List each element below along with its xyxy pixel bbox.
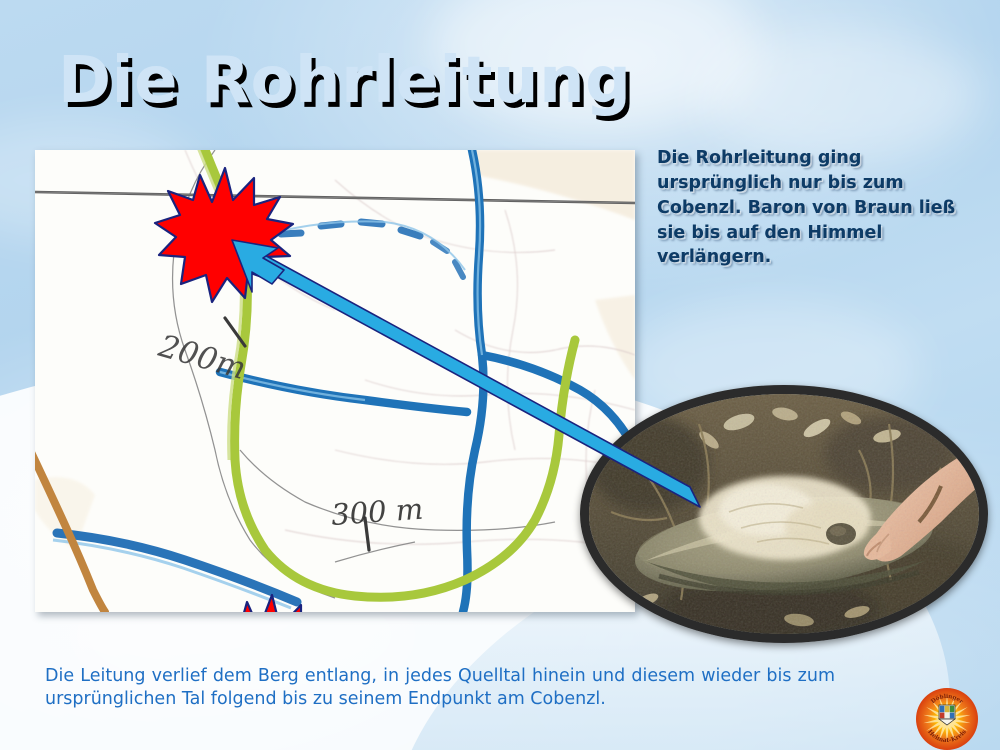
slide-caption: Die Leitung verlief dem Berg entlang, in… [45, 665, 835, 712]
doeblinger-heimat-kreis-logo[interactable]: Döblinger Heimat-Kreis [916, 688, 978, 750]
logo-graphic: Döblinger Heimat-Kreis [916, 688, 978, 750]
side-note-text: Die Rohrleitung ging ursprünglich nur bi… [657, 146, 987, 270]
presentation-slide: Die Rohrleitung [0, 0, 1000, 750]
map-elevation-label-300m: 300 m [330, 492, 424, 532]
page-title: Die Rohrleitung [58, 44, 631, 118]
map-image: 200m 300 m [35, 150, 635, 612]
pipe-photo [580, 385, 988, 643]
map-graphic: 200m 300 m [35, 150, 635, 612]
cloud-decoration [700, 30, 980, 160]
pipe-photo-graphic [589, 394, 979, 634]
